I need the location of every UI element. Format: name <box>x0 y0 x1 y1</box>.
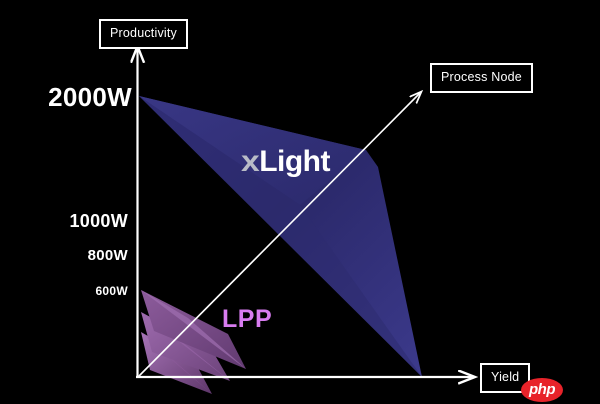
y-tick-label-2000w: 2000W <box>48 82 132 113</box>
y-axis-caption: Productivity <box>99 19 188 49</box>
y-tick-label-800w: 800W <box>88 247 128 264</box>
chart-canvas: Productivity Process Node Yield 2000W 10… <box>0 0 600 404</box>
xlight-logo-mark: x <box>241 147 259 177</box>
y-tick-label-600w: 600W <box>95 284 128 298</box>
chart-graphics <box>0 0 600 404</box>
diagonal-axis-caption: Process Node <box>430 63 533 93</box>
series-label-xlight: xLight <box>242 147 330 177</box>
php-watermark-logo: php <box>521 378 563 402</box>
xlight-logo-word: Light <box>259 145 330 178</box>
y-tick-label-1000w: 1000W <box>69 211 128 232</box>
series-label-lpp: LPP <box>222 307 272 332</box>
